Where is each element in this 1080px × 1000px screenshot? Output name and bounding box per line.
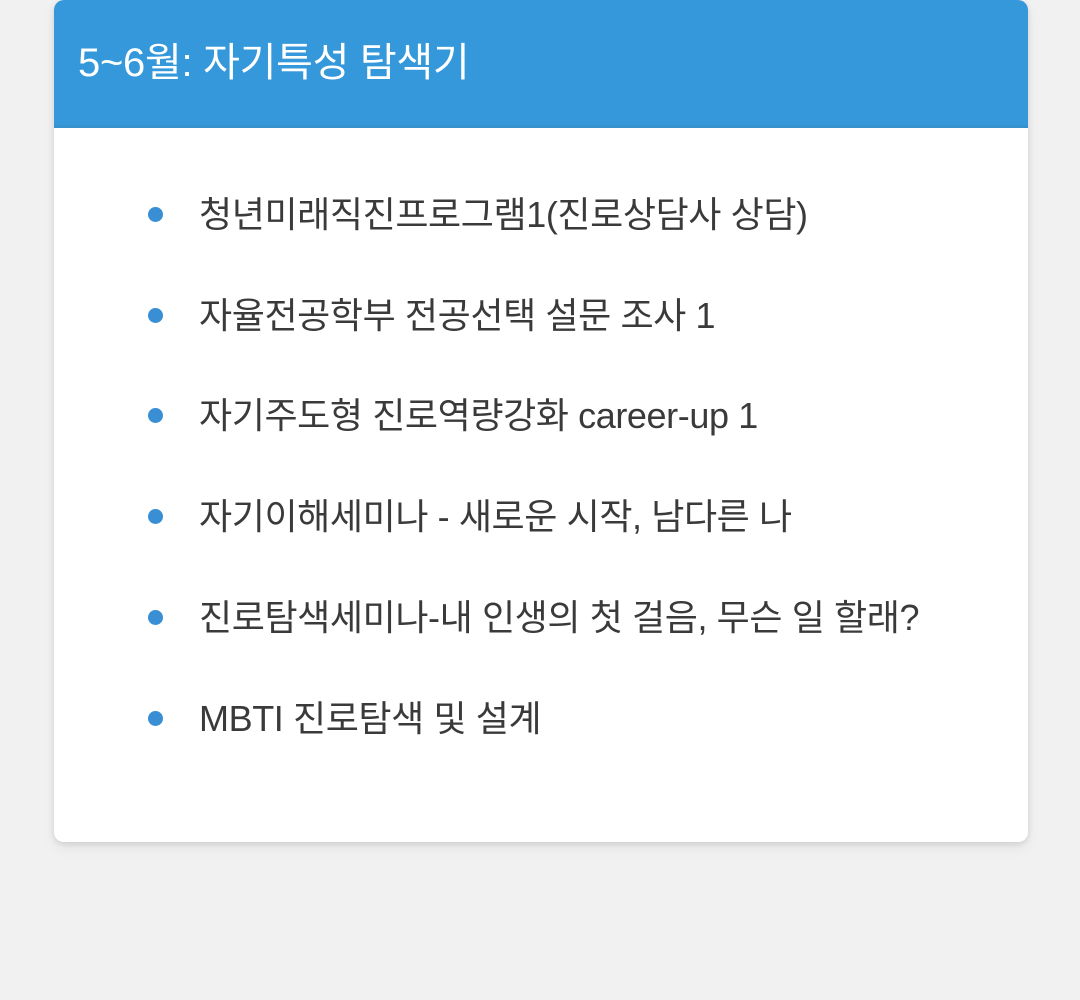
list-item-label: 자율전공학부 전공선택 설문 조사 1 bbox=[199, 289, 966, 344]
list-item: 자기주도형 진로역량강화 career-up 1 bbox=[88, 389, 988, 444]
list-item: MBTI 진로탐색 및 설계 bbox=[88, 692, 988, 747]
card-header: 5~6월: 자기특성 탐색기 bbox=[54, 0, 1028, 128]
card-body: 청년미래직진프로그램1(진로상담사 상담) 자율전공학부 전공선택 설문 조사 … bbox=[54, 128, 1028, 842]
list-item: 청년미래직진프로그램1(진로상담사 상담) bbox=[88, 188, 988, 243]
list-item: 진로탐색세미나-내 인생의 첫 걸음, 무슨 일 할래? bbox=[88, 591, 988, 646]
list-item-label: MBTI 진로탐색 및 설계 bbox=[199, 692, 966, 747]
list-item: 자기이해세미나 - 새로운 시작, 남다른 나 bbox=[88, 490, 988, 545]
bullet-dot-icon bbox=[148, 610, 163, 625]
list-item-label: 자기이해세미나 - 새로운 시작, 남다른 나 bbox=[199, 490, 966, 545]
bullet-dot-icon bbox=[148, 509, 163, 524]
list-item-label: 청년미래직진프로그램1(진로상담사 상담) bbox=[199, 188, 966, 243]
program-card: 5~6월: 자기특성 탐색기 청년미래직진프로그램1(진로상담사 상담) 자율전… bbox=[54, 0, 1028, 842]
bullet-dot-icon bbox=[148, 408, 163, 423]
list-item: 자율전공학부 전공선택 설문 조사 1 bbox=[88, 289, 988, 344]
list-item-label: 진로탐색세미나-내 인생의 첫 걸음, 무슨 일 할래? bbox=[199, 591, 966, 646]
bullet-dot-icon bbox=[148, 308, 163, 323]
bullet-dot-icon bbox=[148, 711, 163, 726]
program-item-list: 청년미래직진프로그램1(진로상담사 상담) 자율전공학부 전공선택 설문 조사 … bbox=[88, 188, 988, 746]
page-root: 5~6월: 자기특성 탐색기 청년미래직진프로그램1(진로상담사 상담) 자율전… bbox=[0, 0, 1080, 1000]
bullet-dot-icon bbox=[148, 207, 163, 222]
card-title: 5~6월: 자기특성 탐색기 bbox=[78, 39, 469, 87]
list-item-label: 자기주도형 진로역량강화 career-up 1 bbox=[199, 389, 966, 444]
